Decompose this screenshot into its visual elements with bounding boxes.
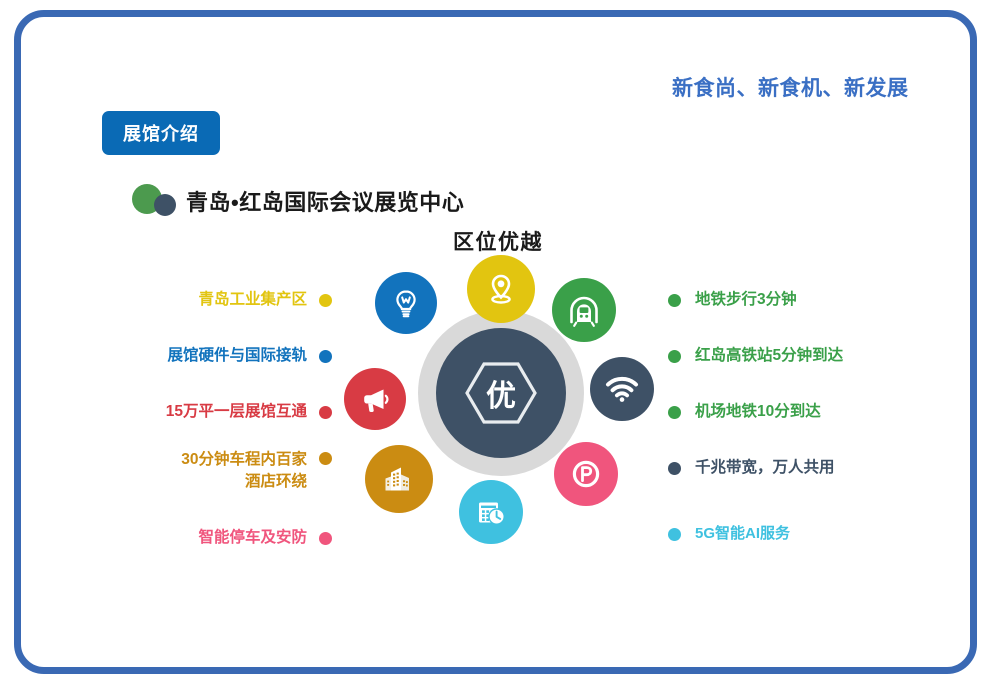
left-item-label-0: 青岛工业集产区 xyxy=(198,289,307,311)
slide-tagline: 新食尚、新食机、新发展 xyxy=(672,72,909,102)
list-item[interactable]: 千兆带宽，万人共用 xyxy=(668,440,918,496)
list-item[interactable]: 展馆硬件与国际接轨 xyxy=(110,328,332,384)
hub-diagram: 优 xyxy=(330,250,670,570)
list-item[interactable]: 30分钟车程内百家 酒店环绕 xyxy=(110,440,332,502)
metro-icon[interactable] xyxy=(552,278,616,342)
list-item[interactable]: 智能停车及安防 xyxy=(110,510,332,566)
list-item[interactable]: 青岛工业集产区 xyxy=(110,272,332,328)
left-item-label-1: 展馆硬件与国际接轨 xyxy=(167,345,307,367)
lightbulb-icon[interactable] xyxy=(375,272,437,334)
venue-logo-icon xyxy=(132,184,186,218)
megaphone-icon[interactable] xyxy=(344,368,406,430)
right-item-label-2: 机场地铁10分到达 xyxy=(695,401,821,423)
parking-icon[interactable] xyxy=(554,442,618,506)
right-item-label-3: 千兆带宽，万人共用 xyxy=(695,457,835,479)
slide-canvas: 新食尚、新食机、新发展 展馆介绍 青岛•红岛国际会议展览中心 区位优越 青岛工业… xyxy=(0,0,1000,696)
list-item[interactable]: 地铁步行3分钟 xyxy=(668,272,918,328)
venue-title-row: 青岛•红岛国际会议展览中心 xyxy=(132,184,464,218)
right-item-label-1: 红岛高铁站5分钟到达 xyxy=(695,345,843,367)
calendar-clock-icon[interactable] xyxy=(459,480,523,544)
list-item[interactable]: 5G智能AI服务 xyxy=(668,506,918,562)
section-tab[interactable]: 展馆介绍 xyxy=(102,111,220,155)
left-item-label-4: 智能停车及安防 xyxy=(198,527,307,549)
left-item-label-3: 30分钟车程内百家 酒店环绕 xyxy=(181,449,307,494)
left-feature-list: 青岛工业集产区 展馆硬件与国际接轨 15万平一层展馆互通 30分钟车程内百家 酒… xyxy=(110,272,332,566)
right-item-label-0: 地铁步行3分钟 xyxy=(695,289,797,311)
list-item[interactable]: 15万平一层展馆互通 xyxy=(110,384,332,440)
hub-core-badge[interactable]: 优 xyxy=(436,328,566,458)
right-item-label-4: 5G智能AI服务 xyxy=(695,523,790,545)
list-item[interactable]: 机场地铁10分到达 xyxy=(668,384,918,440)
location-pin-icon[interactable] xyxy=(467,255,535,323)
wifi-icon[interactable] xyxy=(590,357,654,421)
buildings-icon[interactable] xyxy=(365,445,433,513)
left-item-label-2: 15万平一层展馆互通 xyxy=(166,401,307,423)
right-feature-list: 地铁步行3分钟 红岛高铁站5分钟到达 机场地铁10分到达 千兆带宽，万人共用 5… xyxy=(668,272,918,562)
section-tab-label: 展馆介绍 xyxy=(123,120,199,146)
venue-title: 青岛•红岛国际会议展览中心 xyxy=(186,185,464,217)
hub-core-label: 优 xyxy=(436,328,566,458)
list-item[interactable]: 红岛高铁站5分钟到达 xyxy=(668,328,918,384)
logo-slate-circle xyxy=(154,194,176,216)
